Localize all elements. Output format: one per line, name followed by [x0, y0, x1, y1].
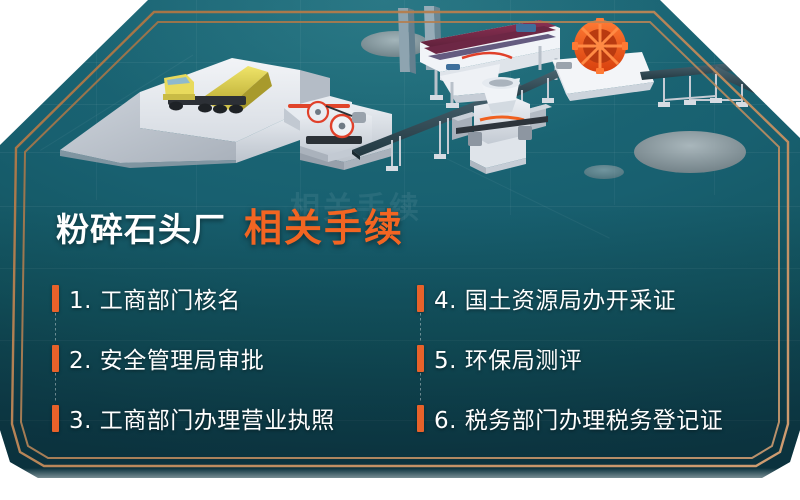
list-item-label: 工商部门办理营业执照: [100, 408, 335, 434]
sand-washer: [552, 18, 654, 101]
list-item-text: 6. 税务部门办理税务登记证: [434, 401, 723, 435]
title-primary: 粉碎石头厂: [56, 203, 226, 251]
list-item-label: 工商部门核名: [100, 288, 241, 314]
page-title: 粉碎石头厂 相关手续: [56, 197, 404, 252]
list-item-label: 环保局测评: [465, 348, 583, 374]
scene-svg: [0, 0, 800, 205]
gravel-pile: [584, 165, 624, 179]
list-item-label: 税务部门办理税务登记证: [465, 408, 724, 434]
bottom-fade: [0, 468, 800, 500]
list-item-index: 4.: [434, 288, 457, 314]
list-item-index: 1.: [69, 288, 92, 314]
list-marker-icon: [52, 345, 59, 372]
list-item-text: 3. 工商部门办理营业执照: [69, 401, 335, 435]
list-marker-icon: [52, 285, 59, 312]
list-item[interactable]: 4. 国土资源局办开采证: [417, 268, 752, 328]
list-item-text: 2. 安全管理局审批: [69, 341, 264, 375]
teal-panel: 相关手续 粉碎石头厂 相关手续 1. 工商部门核名 4. 国土资源局办开采证: [0, 0, 800, 480]
list-item-label: 国土资源局办开采证: [465, 288, 677, 314]
procedure-list: 1. 工商部门核名 4. 国土资源局办开采证 2. 安全管理局审批: [52, 268, 752, 448]
list-item-index: 2.: [69, 348, 92, 374]
list-item-index: 6.: [434, 408, 457, 434]
list-item-label: 安全管理局审批: [100, 348, 265, 374]
list-item-text: 4. 国土资源局办开采证: [434, 281, 676, 315]
list-item-index: 5.: [434, 348, 457, 374]
belt-conveyor: [640, 60, 760, 107]
list-item[interactable]: 2. 安全管理局审批: [52, 328, 417, 388]
list-item-text: 1. 工商部门核名: [69, 281, 241, 315]
list-item[interactable]: 1. 工商部门核名: [52, 268, 417, 328]
list-item[interactable]: 3. 工商部门办理营业执照: [52, 388, 417, 448]
production-line-illustration: [0, 0, 800, 200]
list-item-text: 5. 环保局测评: [434, 341, 582, 375]
title-accent: 相关手续: [244, 197, 404, 252]
list-item[interactable]: 5. 环保局测评: [417, 328, 752, 388]
list-item[interactable]: 6. 税务部门办理税务登记证: [417, 388, 752, 448]
list-marker-icon: [52, 405, 59, 432]
gravel-pile: [361, 31, 429, 57]
list-marker-icon: [417, 405, 424, 432]
list-marker-icon: [417, 345, 424, 372]
list-marker-icon: [417, 285, 424, 312]
gravel-pile: [634, 131, 746, 173]
poster-root: 相关手续 粉碎石头厂 相关手续 1. 工商部门核名 4. 国土资源局办开采证: [0, 0, 800, 500]
list-item-index: 3.: [69, 408, 92, 434]
